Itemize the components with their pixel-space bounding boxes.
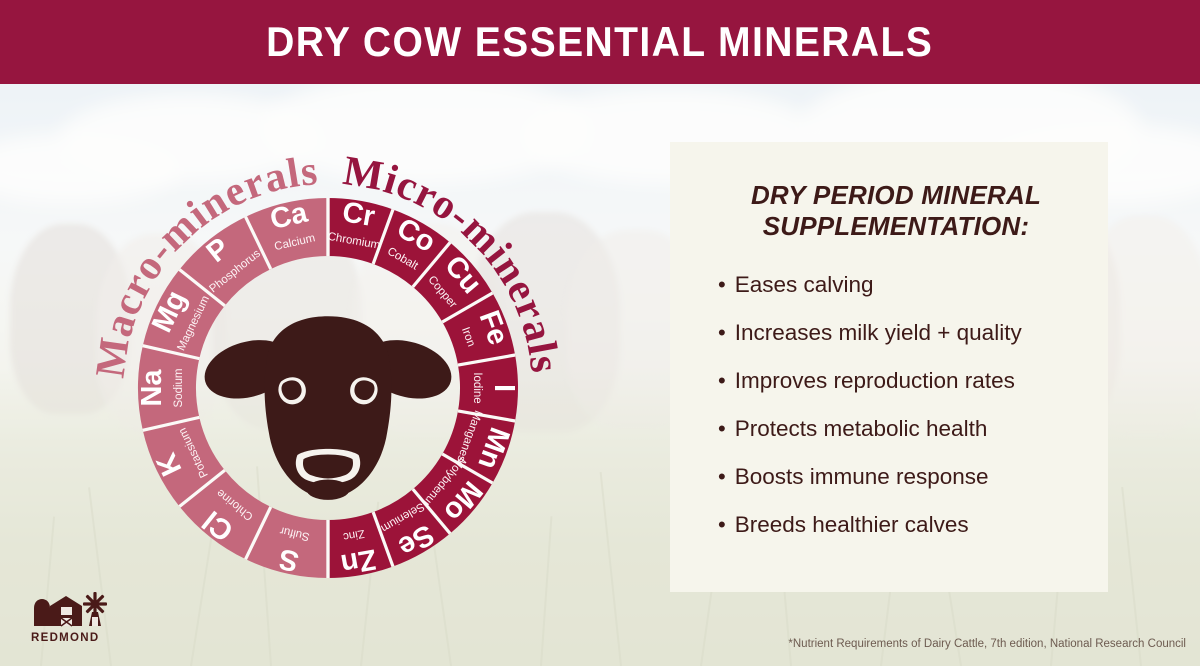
benefit-item: •Eases calving — [718, 272, 1074, 298]
bullet-dot-icon: • — [718, 322, 726, 344]
bullet-dot-icon: • — [718, 274, 726, 296]
benefits-list: •Eases calving•Increases milk yield + qu… — [718, 272, 1074, 537]
benefit-item: •Increases milk yield + quality — [718, 320, 1074, 346]
benefit-item: •Boosts immune response — [718, 464, 1074, 490]
redmond-logo[interactable]: REDMOND — [30, 590, 122, 644]
mineral-symbol: Zn — [338, 542, 378, 580]
title-bar: DRY COW ESSENTIAL MINERALS — [0, 0, 1200, 84]
mineral-symbol: I — [488, 384, 520, 392]
mineral-name: Iodine — [471, 372, 483, 403]
panel-title: DRY PERIOD MINERAL SUPPLEMENTATION: — [718, 180, 1074, 242]
benefit-label: Improves reproduction rates — [735, 368, 1015, 394]
mineral-symbol: Na — [136, 369, 168, 407]
benefit-item: •Protects metabolic health — [718, 416, 1074, 442]
benefit-item: •Breeds healthier calves — [718, 512, 1074, 538]
benefit-label: Protects metabolic health — [735, 416, 988, 442]
page-title: DRY COW ESSENTIAL MINERALS — [266, 18, 933, 66]
infographic-root: DRY COW ESSENTIAL MINERALS — [0, 0, 1200, 666]
bullet-dot-icon: • — [718, 514, 726, 536]
cow-head-icon — [198, 316, 459, 500]
benefit-label: Increases milk yield + quality — [735, 320, 1022, 346]
bullet-dot-icon: • — [718, 466, 726, 488]
bullet-dot-icon: • — [718, 370, 726, 392]
benefit-label: Eases calving — [735, 272, 874, 298]
benefit-item: •Improves reproduction rates — [718, 368, 1074, 394]
logo-wordmark: REDMOND — [30, 632, 122, 644]
mineral-name: Sodium — [173, 369, 185, 408]
supplementation-panel: DRY PERIOD MINERAL SUPPLEMENTATION: •Eas… — [670, 142, 1108, 592]
source-footnote: *Nutrient Requirements of Dairy Cattle, … — [788, 638, 1186, 650]
mineral-wheel: CaCalciumPPhosphorusMgMagnesiumNaSodiumK… — [88, 148, 568, 628]
bullet-dot-icon: • — [718, 418, 726, 440]
barn-windmill-icon — [30, 590, 122, 630]
benefit-label: Breeds healthier calves — [735, 512, 969, 538]
mineral-symbol: Cr — [340, 196, 377, 233]
mineral-segment-na[interactable]: NaSodium — [136, 346, 199, 431]
benefit-label: Boosts immune response — [735, 464, 989, 490]
